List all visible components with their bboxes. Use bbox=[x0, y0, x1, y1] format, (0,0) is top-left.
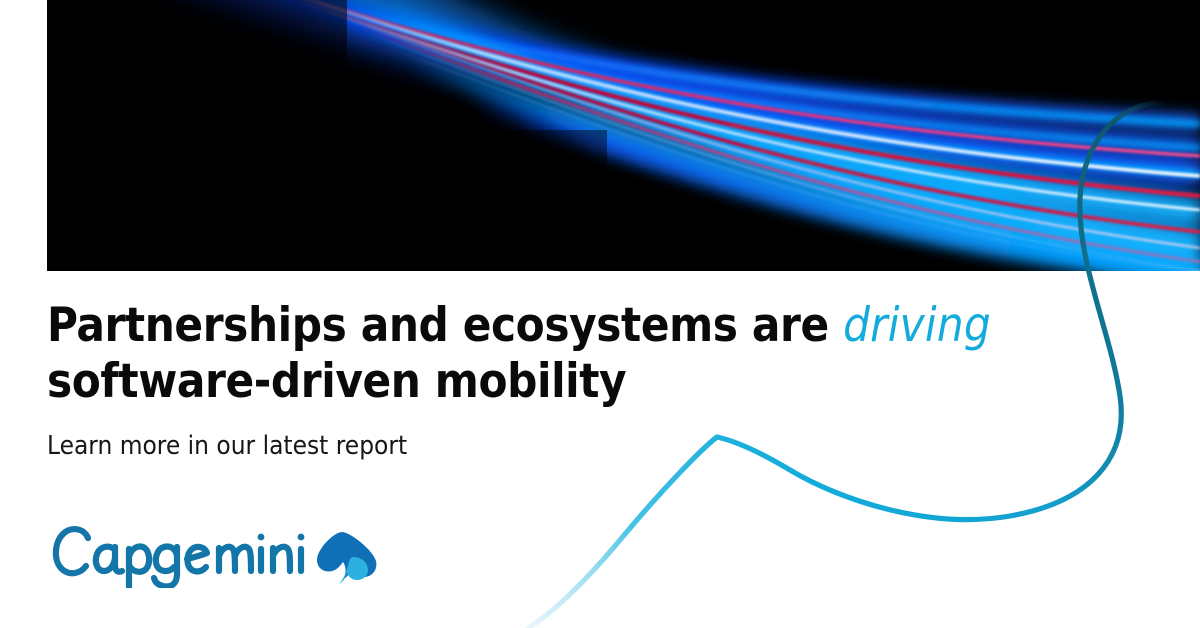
capgemini-wordmark bbox=[56, 529, 305, 588]
headline-line1-plain: Partnerships and ecosystems are bbox=[47, 298, 843, 353]
light-trails-graphic bbox=[47, 0, 1200, 271]
social-card: Partnerships and ecosystems are drivings… bbox=[0, 0, 1200, 628]
subheading: Learn more in our latest report bbox=[47, 410, 1047, 462]
page-title: Partnerships and ecosystems are drivings… bbox=[47, 298, 1047, 410]
hero-image bbox=[47, 0, 1200, 271]
headline-line2: software-driven mobility bbox=[47, 354, 626, 409]
headline-accent-word: driving bbox=[843, 298, 991, 353]
capgemini-logo bbox=[47, 516, 377, 588]
copy-block: Partnerships and ecosystems are drivings… bbox=[47, 298, 1047, 462]
capgemini-logo-svg bbox=[47, 516, 377, 588]
capgemini-spade-mark bbox=[317, 532, 376, 584]
